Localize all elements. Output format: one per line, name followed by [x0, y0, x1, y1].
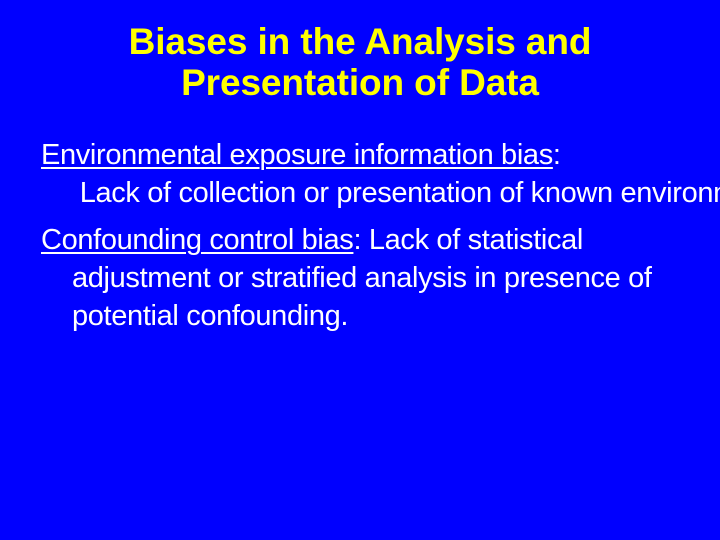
bullet-1-separator: :	[553, 139, 561, 171]
bullet-confounding-control-bias: Confounding control bias: Lack of statis…	[41, 221, 689, 335]
bullet-1-text: Lack of collection or presentation of kn…	[72, 177, 720, 209]
slide: Biases in the Analysis and Presentation …	[0, 0, 720, 540]
slide-title: Biases in the Analysis and Presentation …	[40, 21, 680, 103]
bullet-environmental-exposure-bias: Environmental exposure information bias:…	[41, 136, 689, 212]
bullet-1-underlined-term: Environmental exposure information bias	[41, 139, 553, 171]
slide-body: Environmental exposure information bias:…	[41, 136, 689, 335]
bullet-2-underlined-term: Confounding control bias	[41, 224, 353, 256]
bullet-2-separator: :	[353, 224, 361, 256]
